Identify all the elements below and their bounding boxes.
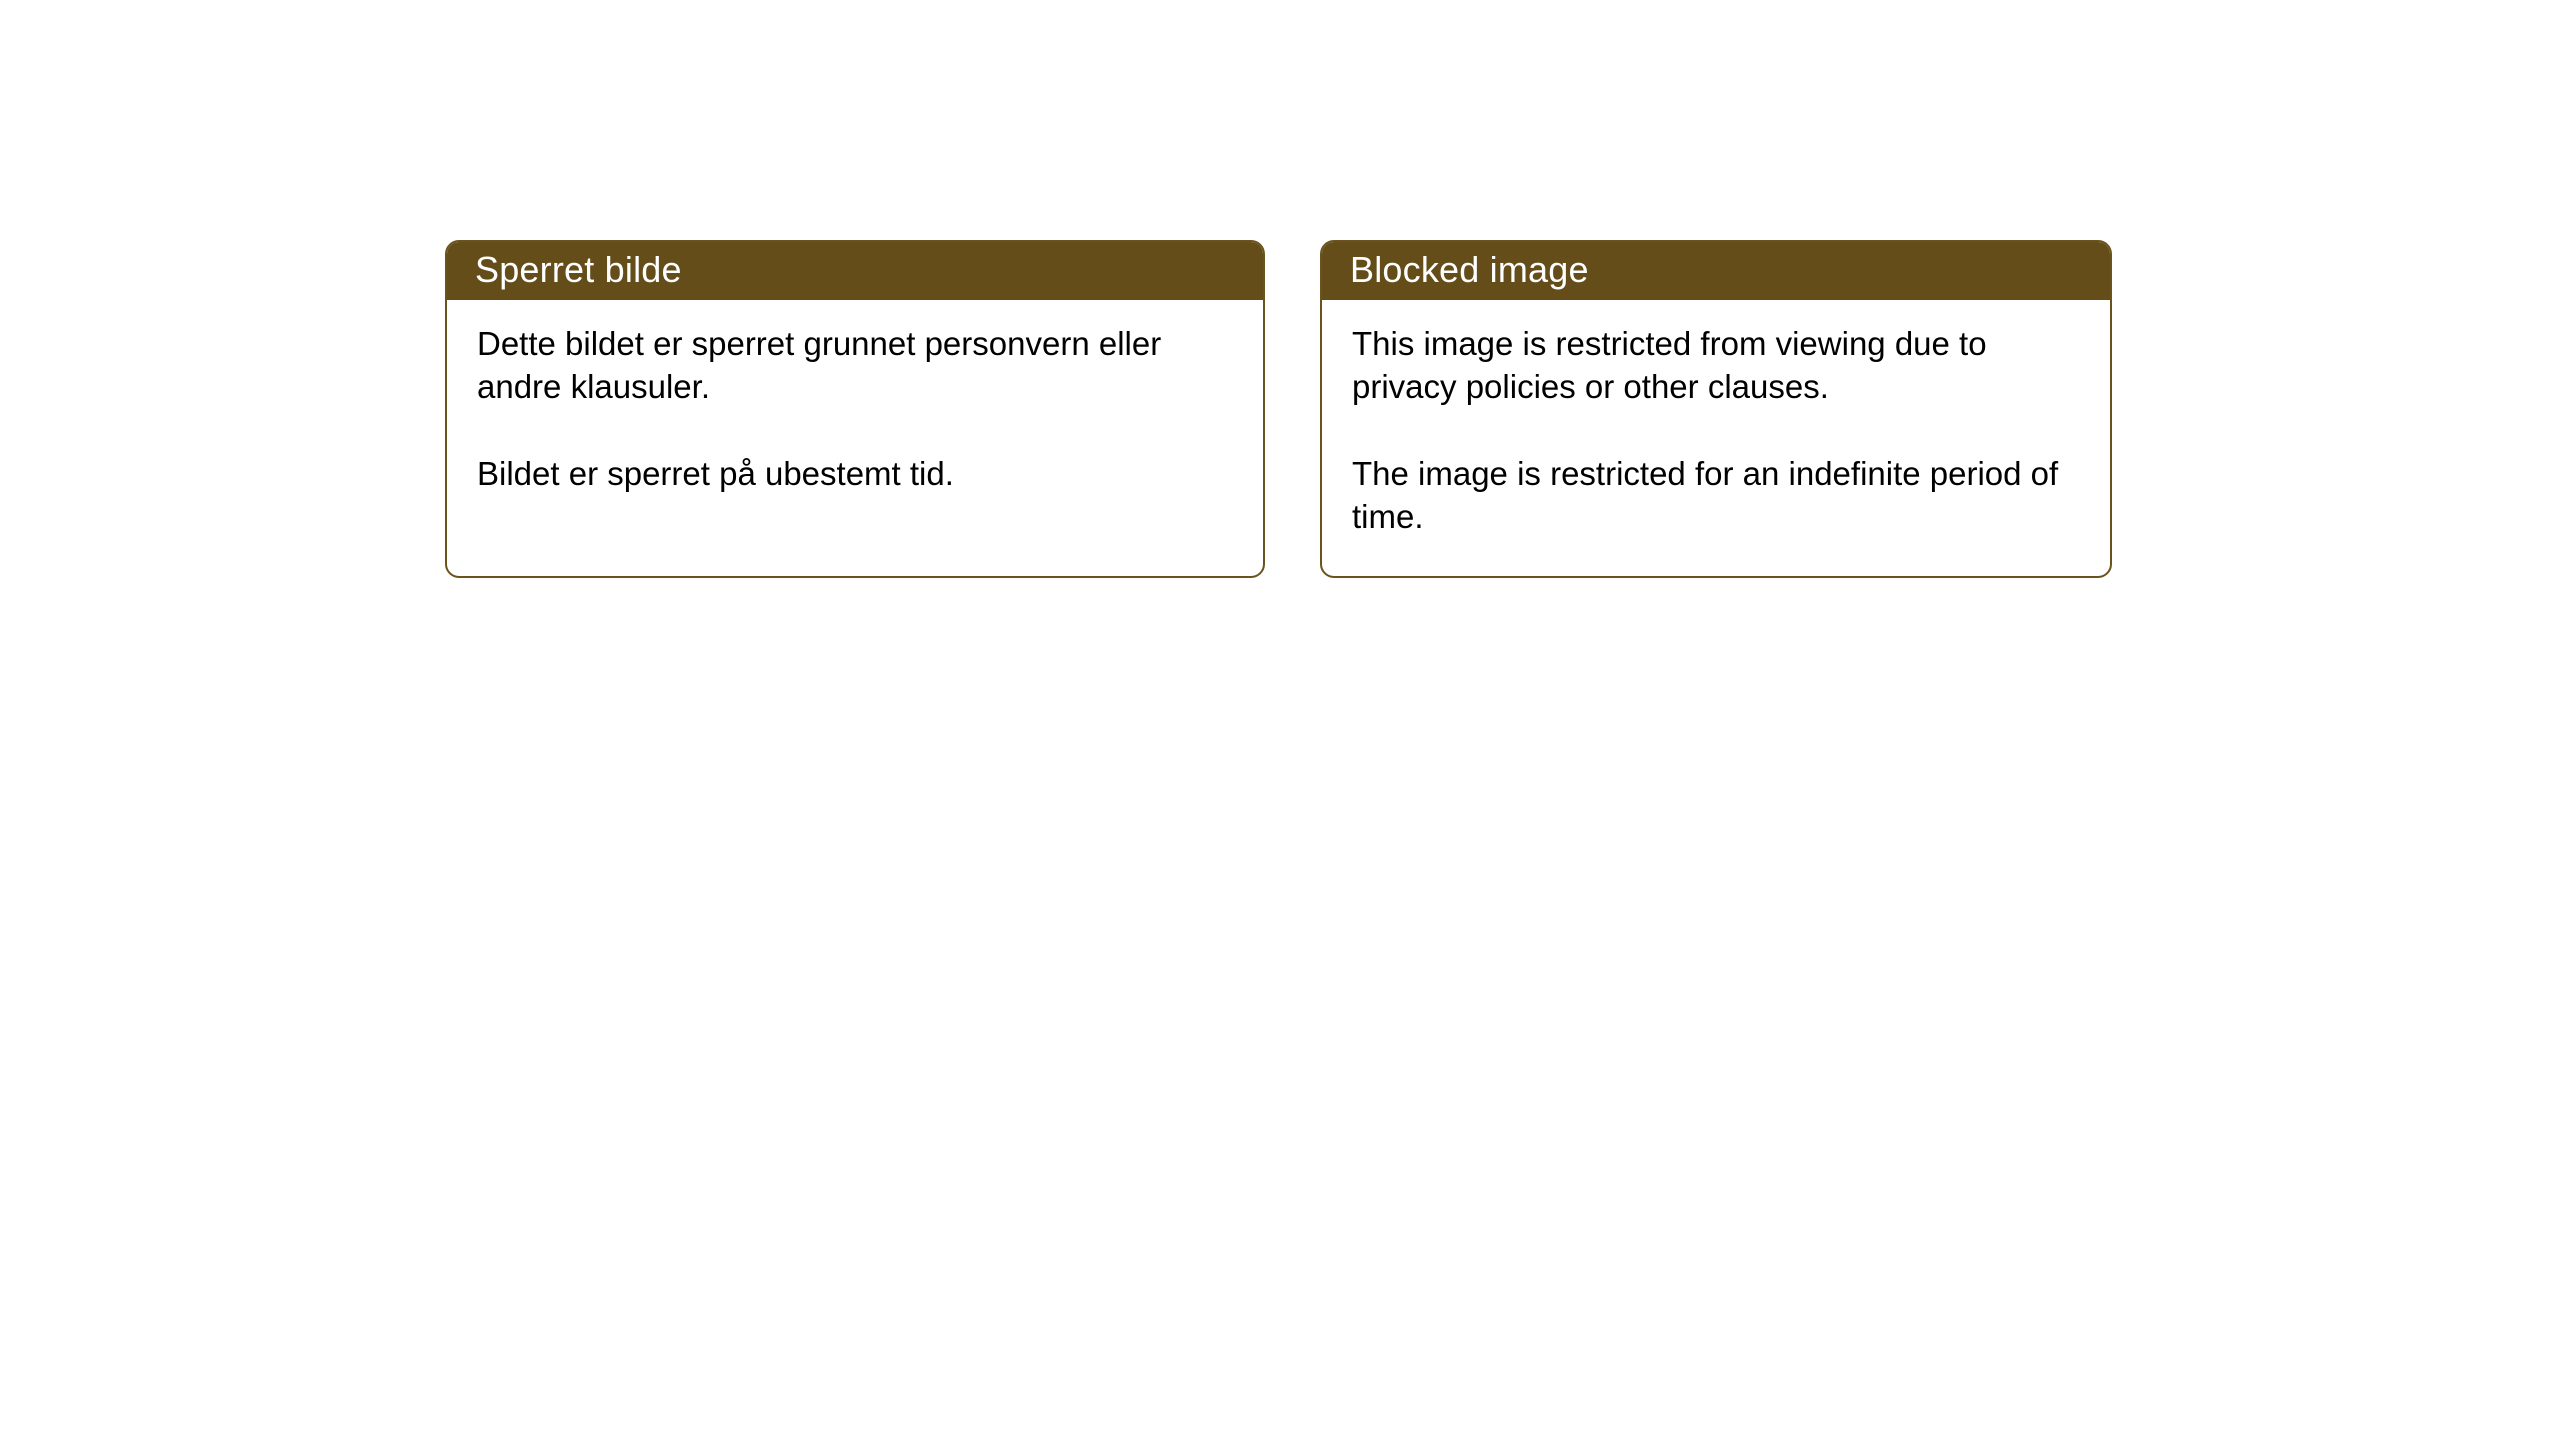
card-paragraph-duration-norwegian: Bildet er sperret på ubestemt tid.: [477, 452, 1235, 495]
blocked-image-notices: Sperret bilde Dette bildet er sperret gr…: [0, 0, 2560, 1440]
card-title-english: Blocked image: [1350, 250, 1589, 290]
card-paragraph-primary-norwegian: Dette bildet er sperret grunnet personve…: [477, 322, 1235, 408]
card-header-english: Blocked image: [1320, 240, 2112, 300]
card-paragraph-primary-english: This image is restricted from viewing du…: [1352, 322, 2082, 408]
card-title-norwegian: Sperret bilde: [475, 250, 682, 290]
blocked-image-card-english: Blocked image This image is restricted f…: [1320, 240, 2112, 578]
blocked-image-card-norwegian: Sperret bilde Dette bildet er sperret gr…: [445, 240, 1265, 578]
card-body-norwegian: Dette bildet er sperret grunnet personve…: [447, 300, 1263, 495]
card-paragraph-duration-english: The image is restricted for an indefinit…: [1352, 452, 2082, 538]
card-header-norwegian: Sperret bilde: [445, 240, 1265, 300]
card-body-english: This image is restricted from viewing du…: [1322, 300, 2110, 538]
